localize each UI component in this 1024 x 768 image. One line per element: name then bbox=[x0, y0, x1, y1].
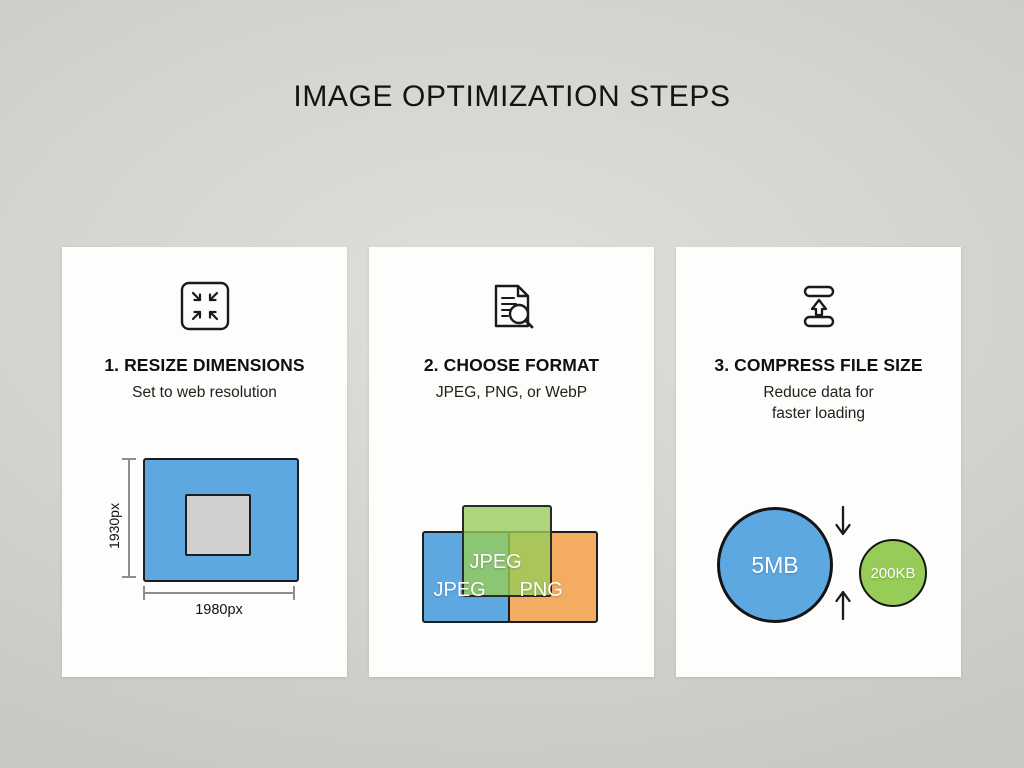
document-search-icon bbox=[369, 263, 654, 349]
resize-figure: 1930px 1980px bbox=[62, 454, 347, 629]
page-title: IMAGE OPTIMIZATION STEPS bbox=[0, 80, 1024, 114]
format-label-orange: PNG bbox=[520, 579, 563, 602]
height-dimension-line bbox=[128, 458, 130, 578]
step-card-compress-file-size[interactable]: 3. COMPRESS FILE SIZE Reduce data for fa… bbox=[676, 247, 961, 677]
card-subtitle-line1: Reduce data for bbox=[763, 384, 873, 401]
card-subtitle: Reduce data for faster loading bbox=[676, 383, 961, 425]
step-card-choose-format[interactable]: 2. CHOOSE FORMAT JPEG, PNG, or WebP JPEG… bbox=[369, 247, 654, 677]
card-heading: 2. CHOOSE FORMAT bbox=[369, 355, 654, 376]
format-label-green: JPEG bbox=[470, 551, 522, 574]
format-figure: JPEG JPEG PNG bbox=[369, 499, 654, 629]
arrow-down-icon bbox=[833, 505, 853, 539]
resize-arrows-icon bbox=[62, 263, 347, 349]
file-size-after-circle: 200KB bbox=[859, 539, 927, 607]
compress-vertical-icon bbox=[676, 263, 961, 349]
height-dimension-label: 1930px bbox=[106, 503, 122, 549]
card-heading: 1. RESIZE DIMENSIONS bbox=[62, 355, 347, 376]
format-label-blue: JPEG bbox=[434, 579, 486, 602]
resized-image-rect bbox=[185, 494, 251, 556]
card-subtitle: Set to web resolution bbox=[62, 383, 347, 404]
card-subtitle: JPEG, PNG, or WebP bbox=[369, 383, 654, 404]
compression-figure: 5MB 200KB bbox=[676, 499, 961, 629]
step-card-resize-dimensions[interactable]: 1. RESIZE DIMENSIONS Set to web resoluti… bbox=[62, 247, 347, 677]
steps-container: 1. RESIZE DIMENSIONS Set to web resoluti… bbox=[62, 247, 962, 677]
width-dimension-label: 1980px bbox=[143, 602, 295, 618]
file-size-before-circle: 5MB bbox=[717, 507, 833, 623]
card-heading: 3. COMPRESS FILE SIZE bbox=[676, 355, 961, 376]
arrow-up-icon bbox=[833, 587, 853, 621]
card-subtitle-line2: faster loading bbox=[772, 405, 865, 422]
width-dimension-line bbox=[143, 592, 295, 594]
